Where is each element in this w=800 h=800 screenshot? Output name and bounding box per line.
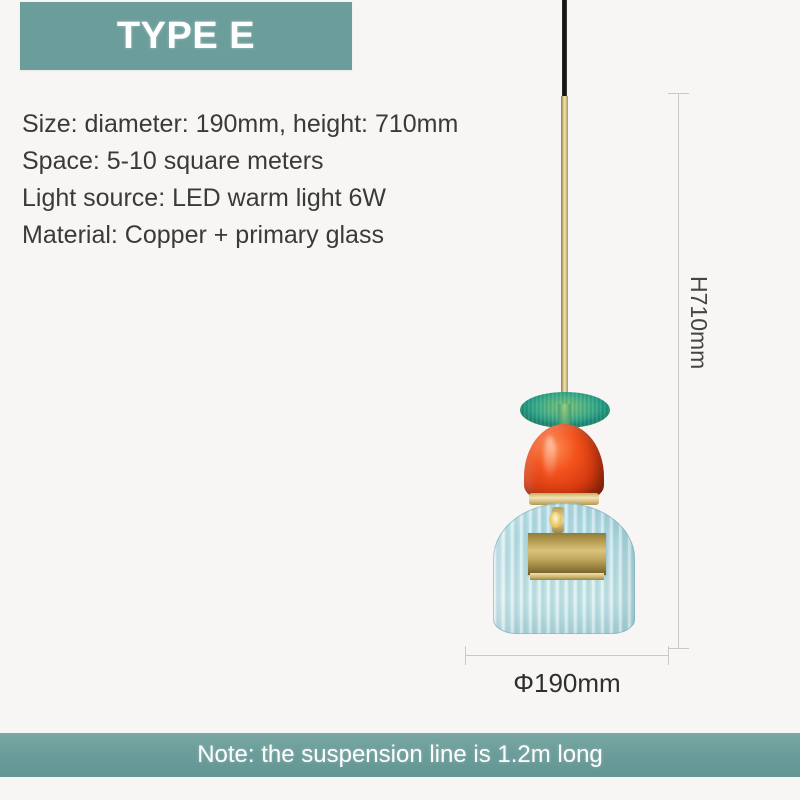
height-dimension-tick-top: [668, 93, 689, 94]
type-banner-label: TYPE E: [117, 15, 255, 58]
orange-glass-highlight: [544, 436, 556, 478]
note-bar-label: Note: the suspension line is 1.2m long: [197, 741, 603, 769]
diameter-dimension-tick-left: [465, 646, 466, 665]
suspension-cord: [562, 0, 567, 98]
height-dimension-tick-bottom: [668, 648, 689, 649]
height-dimension-line: [678, 93, 679, 649]
pendant-lamp-illustration: [420, 0, 680, 660]
note-bar: Note: the suspension line is 1.2m long: [0, 733, 800, 777]
type-banner: TYPE E: [20, 2, 352, 70]
product-spec-sheet: TYPE E Size: diameter: 190mm, height: 71…: [0, 0, 800, 800]
diameter-dimension-tick-right: [668, 646, 669, 665]
blue-glass-shade-outline: [493, 503, 635, 634]
orange-glass-bell: [524, 424, 604, 502]
height-dimension-label: H710mm: [685, 276, 712, 416]
diameter-dimension-label: Φ190mm: [440, 668, 694, 699]
diameter-dimension-line: [465, 655, 668, 656]
brass-rod: [561, 96, 568, 401]
